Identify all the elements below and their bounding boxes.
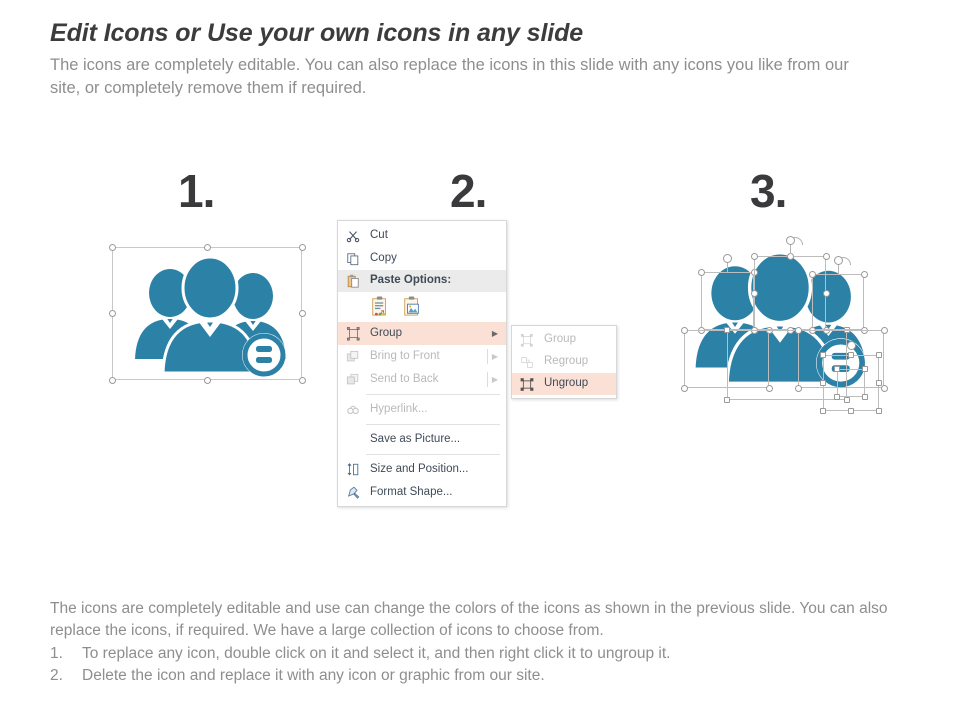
selection-handle-s[interactable] bbox=[204, 377, 211, 384]
selection-handle-nw[interactable] bbox=[820, 352, 826, 358]
menu-item-hyperlink[interactable]: Hyperlink... bbox=[338, 398, 506, 421]
selection-handle-nw[interactable] bbox=[681, 327, 688, 334]
regroup-icon bbox=[516, 353, 538, 371]
selection-handle-ne[interactable] bbox=[823, 253, 830, 260]
menu-item-label: Paste Options: bbox=[364, 275, 500, 287]
menu-divider bbox=[487, 372, 488, 387]
menu-item-label: Bring to Front bbox=[364, 351, 490, 363]
selection-handle-ne[interactable] bbox=[881, 327, 888, 334]
list-item-number: 2. bbox=[50, 665, 76, 687]
selection-handle-se[interactable] bbox=[299, 377, 306, 384]
step-number-1: 1. bbox=[178, 168, 214, 214]
menu-item-cut[interactable]: Cut bbox=[338, 224, 506, 247]
copy-icon bbox=[342, 250, 364, 268]
selection-handle-nw[interactable] bbox=[795, 327, 802, 334]
submenu-item-label: Group bbox=[538, 334, 610, 346]
size-position-icon bbox=[342, 461, 364, 479]
selection-handle-w[interactable] bbox=[109, 310, 116, 317]
list-item-text: Delete the icon and replace it with any … bbox=[82, 665, 545, 687]
menu-item-label: Copy bbox=[364, 253, 500, 265]
page-title: Edit Icons or Use your own icons in any … bbox=[50, 18, 930, 48]
submenu-item-regroup[interactable]: Regroup bbox=[512, 351, 616, 373]
step-number-3: 3. bbox=[750, 168, 786, 214]
selection-handle-s[interactable] bbox=[787, 327, 794, 334]
rotation-arrow-icon bbox=[793, 237, 803, 245]
selection-handle-se[interactable] bbox=[844, 397, 850, 403]
selection-handle-nw[interactable] bbox=[698, 269, 705, 276]
submenu-item-label: Ungroup bbox=[538, 378, 610, 390]
paste-picture-icon[interactable] bbox=[402, 295, 422, 320]
format-shape-icon bbox=[342, 484, 364, 502]
footer-paragraph: The icons are completely editable and us… bbox=[50, 598, 930, 643]
paste-keep-source-formatting-icon[interactable]: a bbox=[370, 295, 390, 320]
team-people-icon bbox=[130, 253, 290, 377]
selection-handle-ne[interactable] bbox=[299, 244, 306, 251]
selection-handle-e[interactable] bbox=[299, 310, 306, 317]
ungroup-icon bbox=[516, 375, 538, 393]
selection-handle-sw[interactable] bbox=[698, 327, 705, 334]
menu-item-copy[interactable]: Copy bbox=[338, 247, 506, 270]
selection-handle-nw[interactable] bbox=[724, 327, 730, 333]
step-3-graphic[interactable] bbox=[672, 236, 887, 411]
menu-item-send-to-back[interactable]: Send to Back ▶ bbox=[338, 368, 506, 391]
group-icon bbox=[516, 331, 538, 349]
team-people-icon bbox=[690, 248, 870, 388]
menu-item-label: Format Shape... bbox=[364, 487, 500, 499]
selection-handle-n[interactable] bbox=[848, 352, 854, 358]
selection-handle-sw[interactable] bbox=[795, 385, 802, 392]
menu-item-label: Save as Picture... bbox=[364, 434, 500, 446]
submenu-item-ungroup[interactable]: Ungroup bbox=[512, 373, 616, 395]
submenu-item-group[interactable]: Group bbox=[512, 329, 616, 351]
selection-handle-ne[interactable] bbox=[844, 327, 850, 333]
menu-item-format-shape[interactable]: Format Shape... bbox=[338, 481, 506, 504]
selection-handle-nw[interactable] bbox=[809, 271, 816, 278]
selection-handle-ne[interactable] bbox=[861, 271, 868, 278]
group-icon bbox=[342, 325, 364, 343]
menu-separator bbox=[366, 394, 500, 395]
submenu-item-label: Regroup bbox=[538, 356, 610, 368]
selection-handle-sw[interactable] bbox=[834, 394, 840, 400]
paste-options-strip[interactable]: a bbox=[338, 292, 506, 322]
menu-item-label: Cut bbox=[364, 230, 500, 242]
menu-separator bbox=[366, 454, 500, 455]
selection-handle-nw[interactable] bbox=[109, 244, 116, 251]
selection-handle-sw[interactable] bbox=[751, 327, 758, 334]
selection-handle-se[interactable] bbox=[876, 408, 882, 414]
menu-item-bring-to-front[interactable]: Bring to Front ▶ bbox=[338, 345, 506, 368]
send-to-back-icon bbox=[342, 371, 364, 389]
selection-handle-w[interactable] bbox=[751, 290, 758, 297]
hyperlink-icon bbox=[342, 401, 364, 419]
selection-handle-sw[interactable] bbox=[681, 385, 688, 392]
rotation-handle[interactable] bbox=[723, 254, 732, 263]
menu-separator bbox=[366, 424, 500, 425]
menu-item-group[interactable]: Group ▶ bbox=[338, 322, 506, 345]
selection-handle-se[interactable] bbox=[766, 385, 773, 392]
menu-item-label: Send to Back bbox=[364, 374, 490, 386]
slide-header: Edit Icons or Use your own icons in any … bbox=[50, 18, 930, 101]
rotation-handle[interactable] bbox=[847, 341, 856, 350]
chevron-right-icon: ▶ bbox=[490, 329, 500, 338]
footer-text: The icons are completely editable and us… bbox=[50, 598, 930, 688]
slide-subtitle: The icons are completely editable. You c… bbox=[50, 54, 880, 101]
clipboard-icon bbox=[342, 272, 364, 290]
list-item-number: 1. bbox=[50, 643, 76, 665]
menu-item-size-and-position[interactable]: Size and Position... bbox=[338, 458, 506, 481]
selection-handle-se[interactable] bbox=[823, 327, 830, 334]
badge-b-icon bbox=[242, 333, 286, 377]
selection-handle-sw[interactable] bbox=[820, 408, 826, 414]
list-item-text: To replace any icon, double click on it … bbox=[82, 643, 670, 665]
menu-item-label: Size and Position... bbox=[364, 464, 500, 476]
list-item: 2. Delete the icon and replace it with a… bbox=[50, 665, 930, 687]
group-submenu[interactable]: Group Regroup bbox=[511, 325, 617, 399]
selection-handle-w[interactable] bbox=[820, 380, 826, 386]
selection-handle-nw[interactable] bbox=[834, 366, 840, 372]
selection-handle-ne[interactable] bbox=[862, 366, 868, 372]
list-item: 1. To replace any icon, double click on … bbox=[50, 643, 930, 665]
menu-item-save-as-picture[interactable]: Save as Picture... bbox=[338, 428, 506, 451]
context-menu[interactable]: Cut Copy Paste Options: bbox=[337, 220, 507, 507]
selection-handle-e[interactable] bbox=[823, 290, 830, 297]
scissors-icon bbox=[342, 227, 364, 245]
selection-handle-ne[interactable] bbox=[751, 269, 758, 276]
selection-handle-sw[interactable] bbox=[724, 397, 730, 403]
selection-handle-sw[interactable] bbox=[109, 377, 116, 384]
selection-handle-ne[interactable] bbox=[766, 327, 773, 334]
selection-handle-sw[interactable] bbox=[809, 327, 816, 334]
footer-list: 1. To replace any icon, double click on … bbox=[50, 643, 930, 688]
selection-handle-e[interactable] bbox=[876, 380, 882, 386]
slide-canvas: Edit Icons or Use your own icons in any … bbox=[0, 0, 960, 720]
selection-handle-ne[interactable] bbox=[876, 352, 882, 358]
step-1-graphic[interactable] bbox=[112, 247, 302, 380]
step-number-2: 2. bbox=[450, 168, 486, 214]
menu-item-label: Group bbox=[364, 328, 490, 340]
menu-item-paste-options: Paste Options: bbox=[338, 270, 506, 292]
chevron-right-icon: ▶ bbox=[490, 375, 500, 384]
bring-to-front-icon bbox=[342, 348, 364, 366]
menu-item-label: Hyperlink... bbox=[364, 404, 500, 416]
menu-divider bbox=[487, 349, 488, 364]
chevron-right-icon: ▶ bbox=[490, 352, 500, 361]
selection-handle-se[interactable] bbox=[862, 394, 868, 400]
selection-handle-s[interactable] bbox=[848, 408, 854, 414]
selection-handle-nw[interactable] bbox=[751, 253, 758, 260]
selection-handle-se[interactable] bbox=[861, 327, 868, 334]
selection-handle-n[interactable] bbox=[204, 244, 211, 251]
